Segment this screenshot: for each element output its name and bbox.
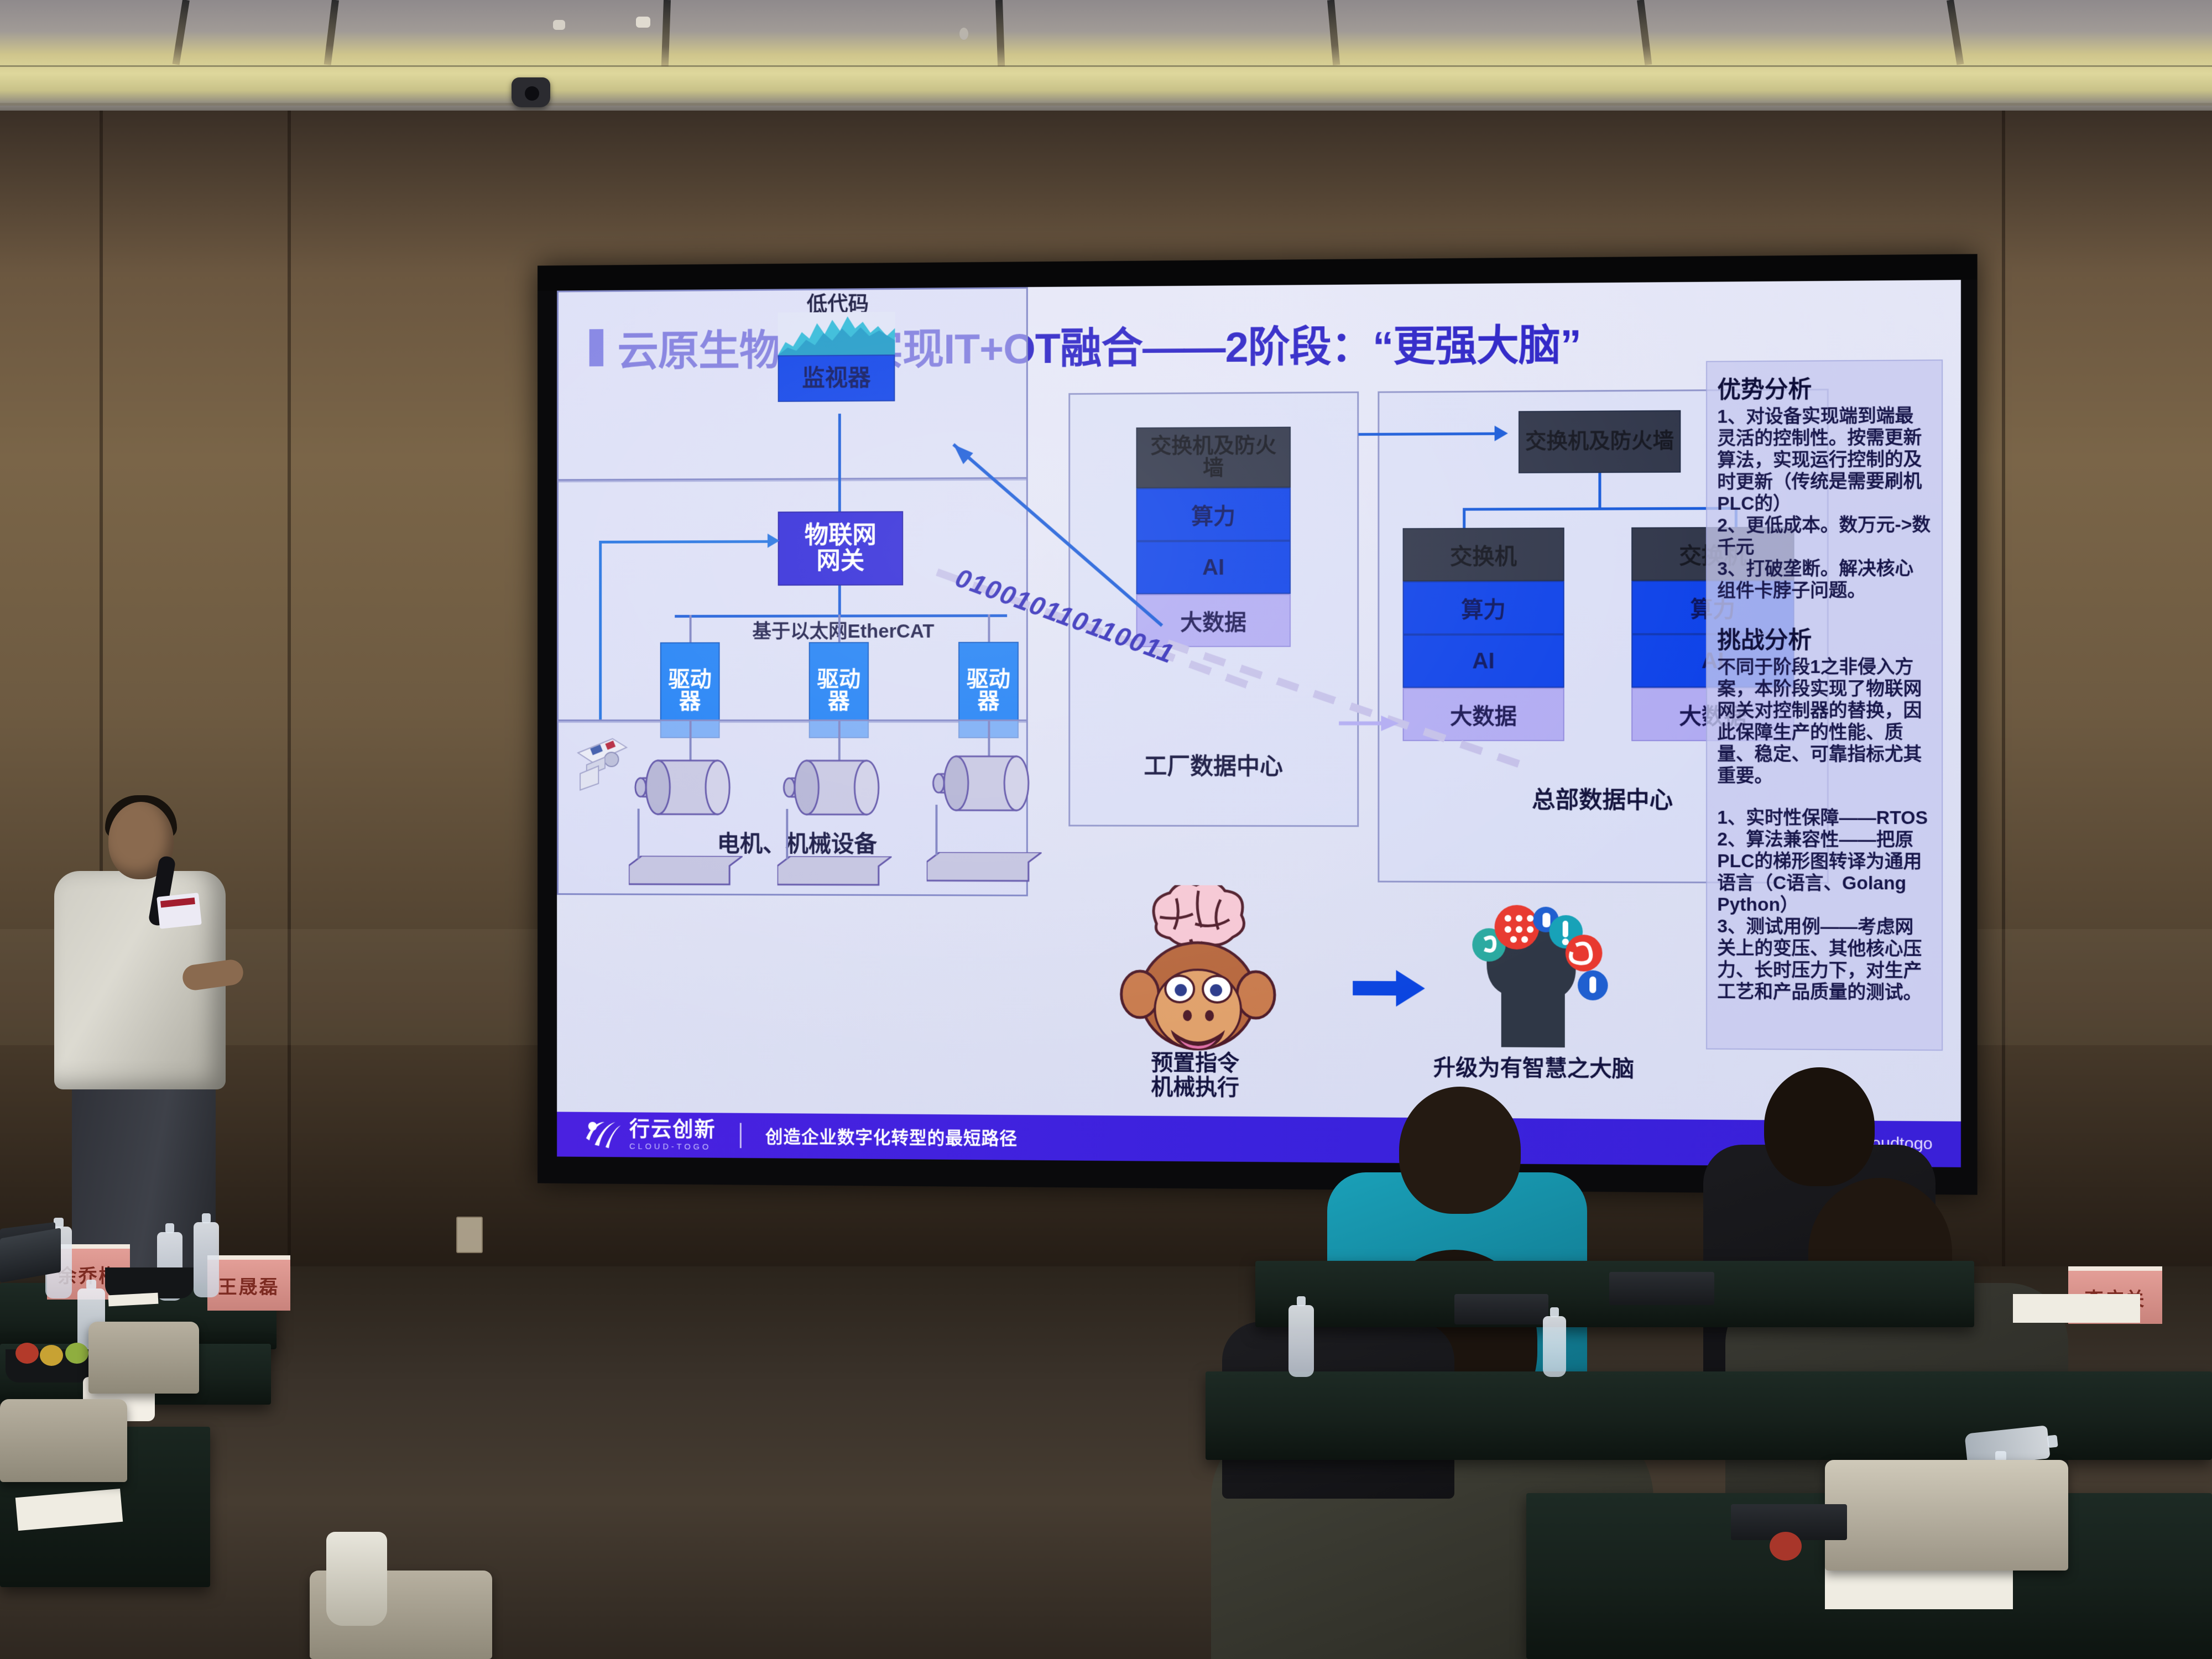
fruit [1770, 1532, 1802, 1561]
machine-base [927, 852, 1042, 883]
brand-name-cn: 行云创新 [629, 1119, 716, 1140]
fruit [65, 1343, 88, 1364]
gateway-label-line2: 网关 [816, 549, 864, 574]
fruit [40, 1345, 63, 1366]
gateway-label-line1: 物联网 [805, 523, 877, 549]
placard-name: 王晟磊 [218, 1272, 280, 1299]
upgrade-arrow-icon [1353, 969, 1425, 1008]
challenge-list: 1、实时性保障——RTOS 2、算法兼容性——把原PLC的梯形图转译为通用语言（… [1717, 807, 1931, 1003]
chair [1825, 1460, 2068, 1571]
stool [326, 1532, 387, 1626]
presentation-slide: 云原生物联网实现IT+OT融合——2阶段：“更强大脑” 低代码 监视器 [557, 280, 1961, 1167]
advantage-heading: 优势分析 [1717, 369, 1931, 405]
footer-divider [740, 1123, 742, 1149]
hq-firewall-box: 交换机及防火墙 [1519, 410, 1681, 473]
conference-room-photo: 云原生物联网实现IT+OT融合——2阶段：“更强大脑” 低代码 监视器 [0, 0, 2212, 1659]
monitor-chart-icon [778, 312, 895, 356]
laptop [1454, 1294, 1548, 1324]
monitor-box: 监视器 [778, 354, 895, 402]
brand-name-en: CLOUD-TOGO [629, 1141, 716, 1151]
water-bottle [1543, 1316, 1566, 1377]
iot-gateway-box: 物联网 网关 [778, 511, 904, 586]
brand-logo: 行云创新 CLOUD-TOGO [582, 1118, 716, 1151]
ceiling [0, 0, 2212, 119]
motor-icon [932, 749, 1042, 829]
chair [0, 1399, 127, 1482]
projection-screen: 云原生物联网实现IT+OT融合——2阶段：“更强大脑” 低代码 监视器 [538, 254, 1978, 1194]
brain-upgrade-graphic: 预置指令 机械执行 [1102, 885, 1691, 1109]
advantage-body: 1、对设备实现端到端最灵活的控制性。按需更新算法，实现运行控制的及时更新（传统是… [1717, 405, 1931, 601]
water-bottle [1288, 1305, 1314, 1377]
monkey-caption-line1: 预置指令 [1102, 1050, 1289, 1076]
cloudtogo-logo-icon [582, 1119, 622, 1151]
challenge-heading: 挑战分析 [1717, 621, 1931, 655]
mic-flag-badge [156, 893, 202, 929]
camera-icon [571, 731, 635, 791]
name-placard: 王晟磊 [207, 1255, 290, 1311]
machine-base [629, 855, 743, 886]
analysis-text-panel: 优势分析 1、对设备实现端到端最灵活的控制性。按需更新算法，实现运行控制的及时更… [1706, 359, 1943, 1051]
bigdata-inflow-arrow [1339, 711, 1400, 733]
fruit [15, 1343, 39, 1364]
table-right-mid [1206, 1371, 2212, 1460]
napkin [2013, 1294, 2140, 1323]
challenge-body: 不同于阶段1之非侵入方案，本阶段实现了物联网网关对控制器的替换，因此保障生产的性… [1717, 656, 1931, 787]
ceiling-camera-icon [512, 77, 550, 107]
machine-base [778, 856, 892, 887]
chair [88, 1322, 199, 1394]
monkey-brain-icon [1118, 885, 1278, 1051]
hq-rack-row: AI [1403, 634, 1564, 688]
factory-dc-caption: 工厂数据中心 [1070, 748, 1357, 781]
motor-icon [782, 753, 891, 833]
hq-rack-row: 交换机 [1403, 528, 1564, 581]
laptop [1609, 1272, 1714, 1305]
smart-brain-caption: 升级为有智慧之大脑 [1366, 1055, 1702, 1082]
hq-rack: 交换机 算力 AI 大数据 [1403, 528, 1564, 741]
water-bottle [194, 1222, 219, 1297]
brand-tagline: 创造企业数字化转型的最短路径 [765, 1123, 1018, 1150]
hq-rack-row: 算力 [1403, 581, 1564, 635]
motor-icon [634, 753, 743, 832]
dc-link-arrowhead [1495, 426, 1508, 441]
machines-label: 电机、机械设备 [645, 825, 950, 859]
machine-layer: 电机、机械设备 [557, 719, 1028, 896]
monkey-caption-line2: 机械执行 [1102, 1074, 1289, 1100]
monkey-caption: 预置指令 机械执行 [1102, 1050, 1289, 1100]
smart-head-icon [1450, 886, 1618, 1053]
